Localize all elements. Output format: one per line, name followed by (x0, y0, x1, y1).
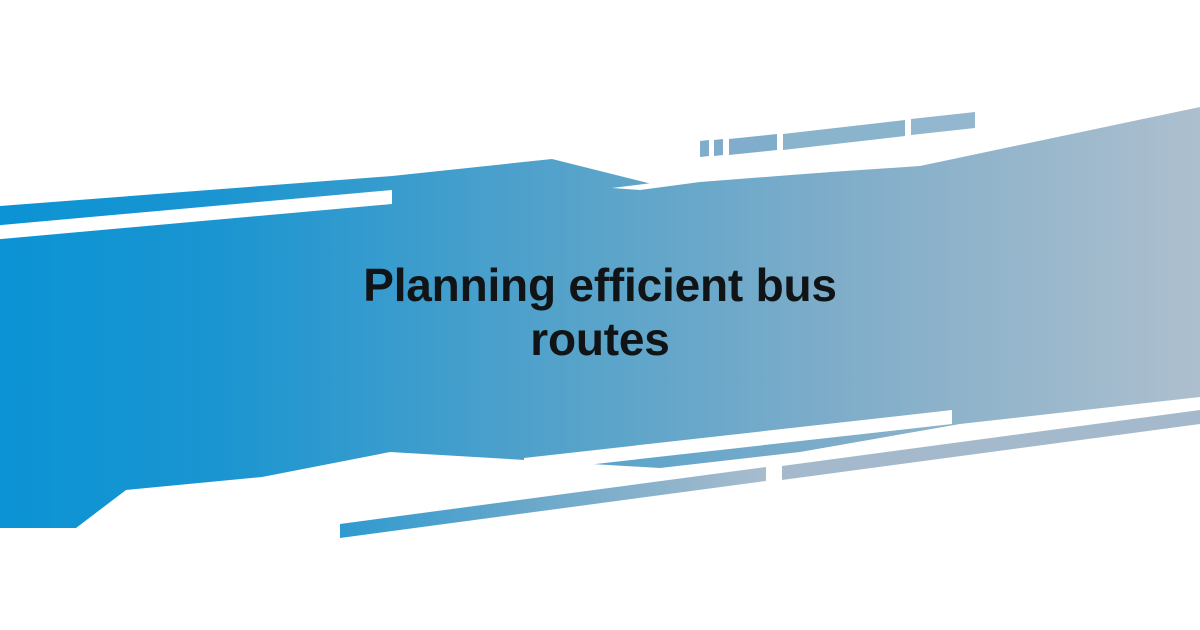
bottom-bar-left (340, 467, 766, 538)
dash-5 (911, 112, 975, 135)
dash-3 (729, 134, 777, 155)
dash-2 (714, 139, 723, 156)
decorative-banner-artwork (0, 0, 1200, 630)
banner: Planning efficient bus routes (0, 0, 1200, 630)
dash-1 (700, 140, 709, 157)
top-dash-group (700, 112, 975, 157)
main-band-shape (0, 107, 1200, 528)
dash-4 (783, 120, 905, 150)
